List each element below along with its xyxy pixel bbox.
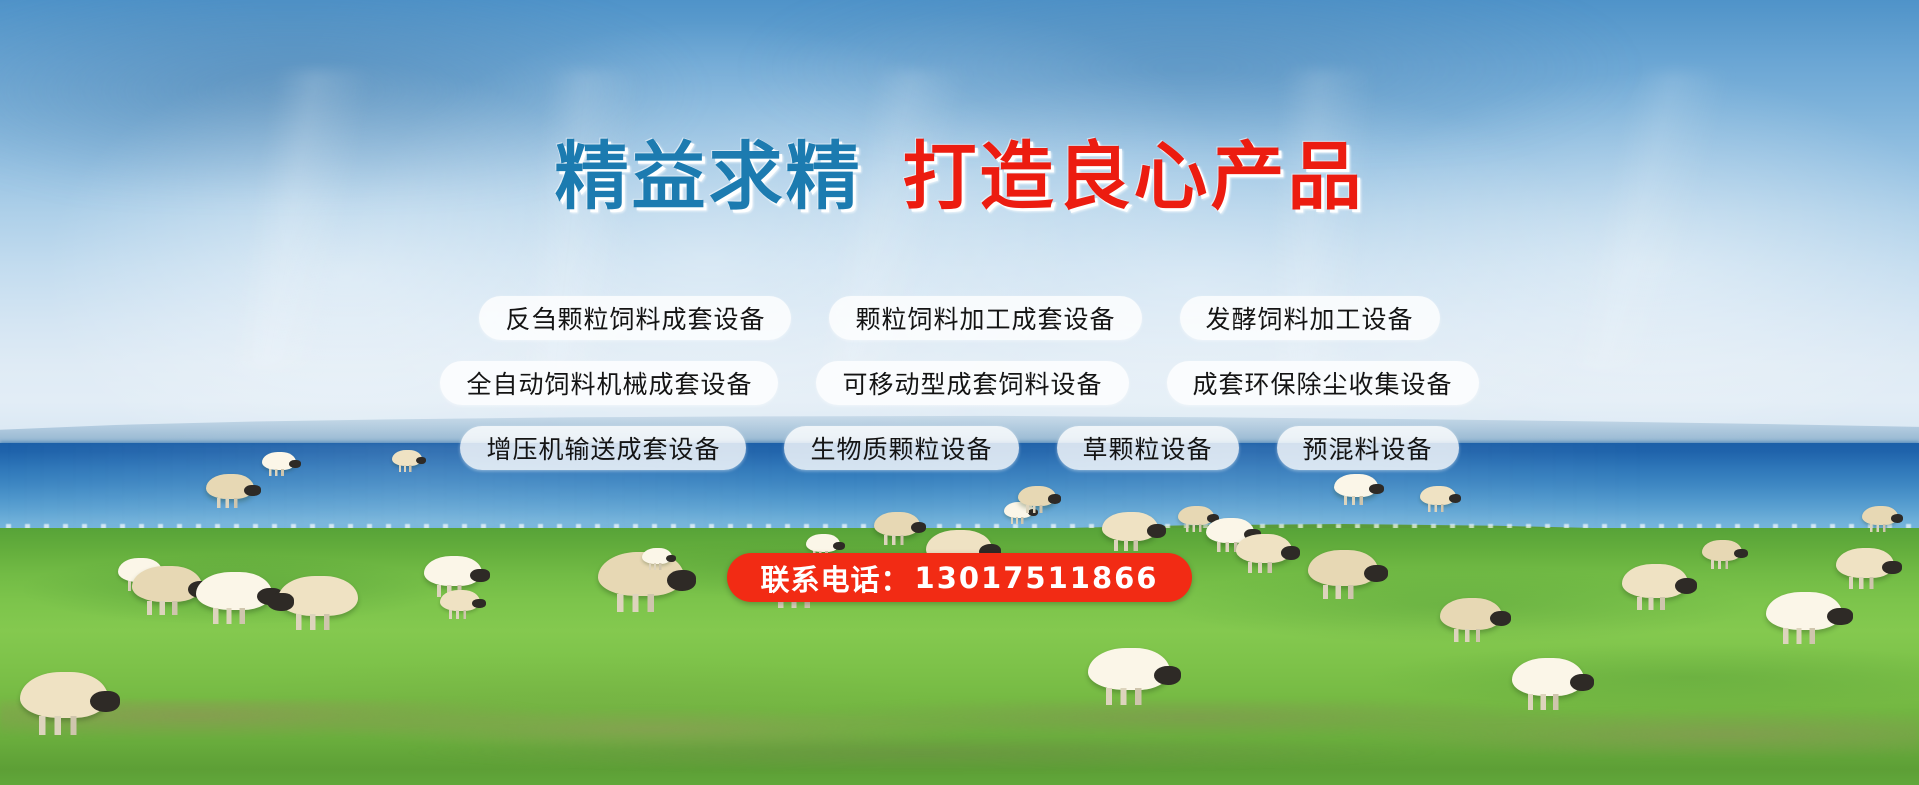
promo-banner: 精益求精打造良心产品 反刍颗粒饲料成套设备 颗粒饲料加工成套设备 发酵饲料加工设… bbox=[0, 0, 1919, 785]
sheep bbox=[1440, 598, 1502, 630]
sheep bbox=[196, 572, 272, 610]
category-pill[interactable]: 草颗粒设备 bbox=[1057, 426, 1239, 470]
sheep bbox=[132, 566, 202, 602]
sheep bbox=[1836, 548, 1894, 578]
sheep bbox=[642, 548, 672, 564]
headline: 精益求精打造良心产品 bbox=[0, 140, 1919, 214]
sheep bbox=[874, 512, 920, 536]
sheep bbox=[440, 590, 480, 611]
category-pill[interactable]: 反刍颗粒饲料成套设备 bbox=[479, 296, 791, 340]
sheep bbox=[1178, 506, 1214, 525]
headline-part-2: 打造良心产品 bbox=[903, 134, 1365, 220]
category-pill[interactable]: 颗粒饲料加工成套设备 bbox=[829, 296, 1141, 340]
dirt-track bbox=[0, 700, 1919, 785]
category-pill-rows: 反刍颗粒饲料成套设备 颗粒饲料加工成套设备 发酵饲料加工设备 全自动饲料机械成套… bbox=[0, 296, 1919, 491]
category-pill[interactable]: 增压机输送成套设备 bbox=[460, 426, 746, 470]
sheep bbox=[1102, 512, 1158, 541]
sheep bbox=[424, 556, 482, 586]
contact-phone-label: 联系电话： bbox=[761, 557, 911, 599]
contact-phone-button[interactable]: 联系电话：13017511866 bbox=[727, 553, 1193, 602]
sheep bbox=[806, 534, 840, 552]
category-pill[interactable]: 发酵饲料加工设备 bbox=[1180, 296, 1440, 340]
sheep bbox=[1512, 658, 1584, 696]
sheep bbox=[1088, 648, 1170, 690]
headline-part-1: 精益求精 bbox=[555, 134, 863, 220]
category-pill[interactable]: 生物质颗粒设备 bbox=[784, 426, 1018, 470]
sheep bbox=[1702, 540, 1742, 561]
category-pill[interactable]: 预混料设备 bbox=[1277, 426, 1459, 470]
sheep bbox=[1766, 592, 1842, 630]
contact-phone-number: 13017511866 bbox=[915, 561, 1159, 595]
sheep bbox=[20, 672, 108, 718]
category-pill-row-3: 增压机输送成套设备 生物质颗粒设备 草颗粒设备 预混料设备 bbox=[0, 426, 1919, 470]
category-pill-row-2: 全自动饲料机械成套设备 可移动型成套饲料设备 成套环保除尘收集设备 bbox=[0, 361, 1919, 405]
category-pill[interactable]: 全自动饲料机械成套设备 bbox=[440, 361, 778, 405]
sheep bbox=[1862, 506, 1898, 525]
sheep bbox=[278, 576, 358, 616]
sheep bbox=[1236, 534, 1292, 563]
category-pill[interactable]: 成套环保除尘收集设备 bbox=[1167, 361, 1479, 405]
sheep bbox=[1308, 550, 1378, 586]
sheep bbox=[1622, 564, 1688, 598]
category-pill[interactable]: 可移动型成套饲料设备 bbox=[816, 361, 1128, 405]
category-pill-row-1: 反刍颗粒饲料成套设备 颗粒饲料加工成套设备 发酵饲料加工设备 bbox=[0, 296, 1919, 340]
